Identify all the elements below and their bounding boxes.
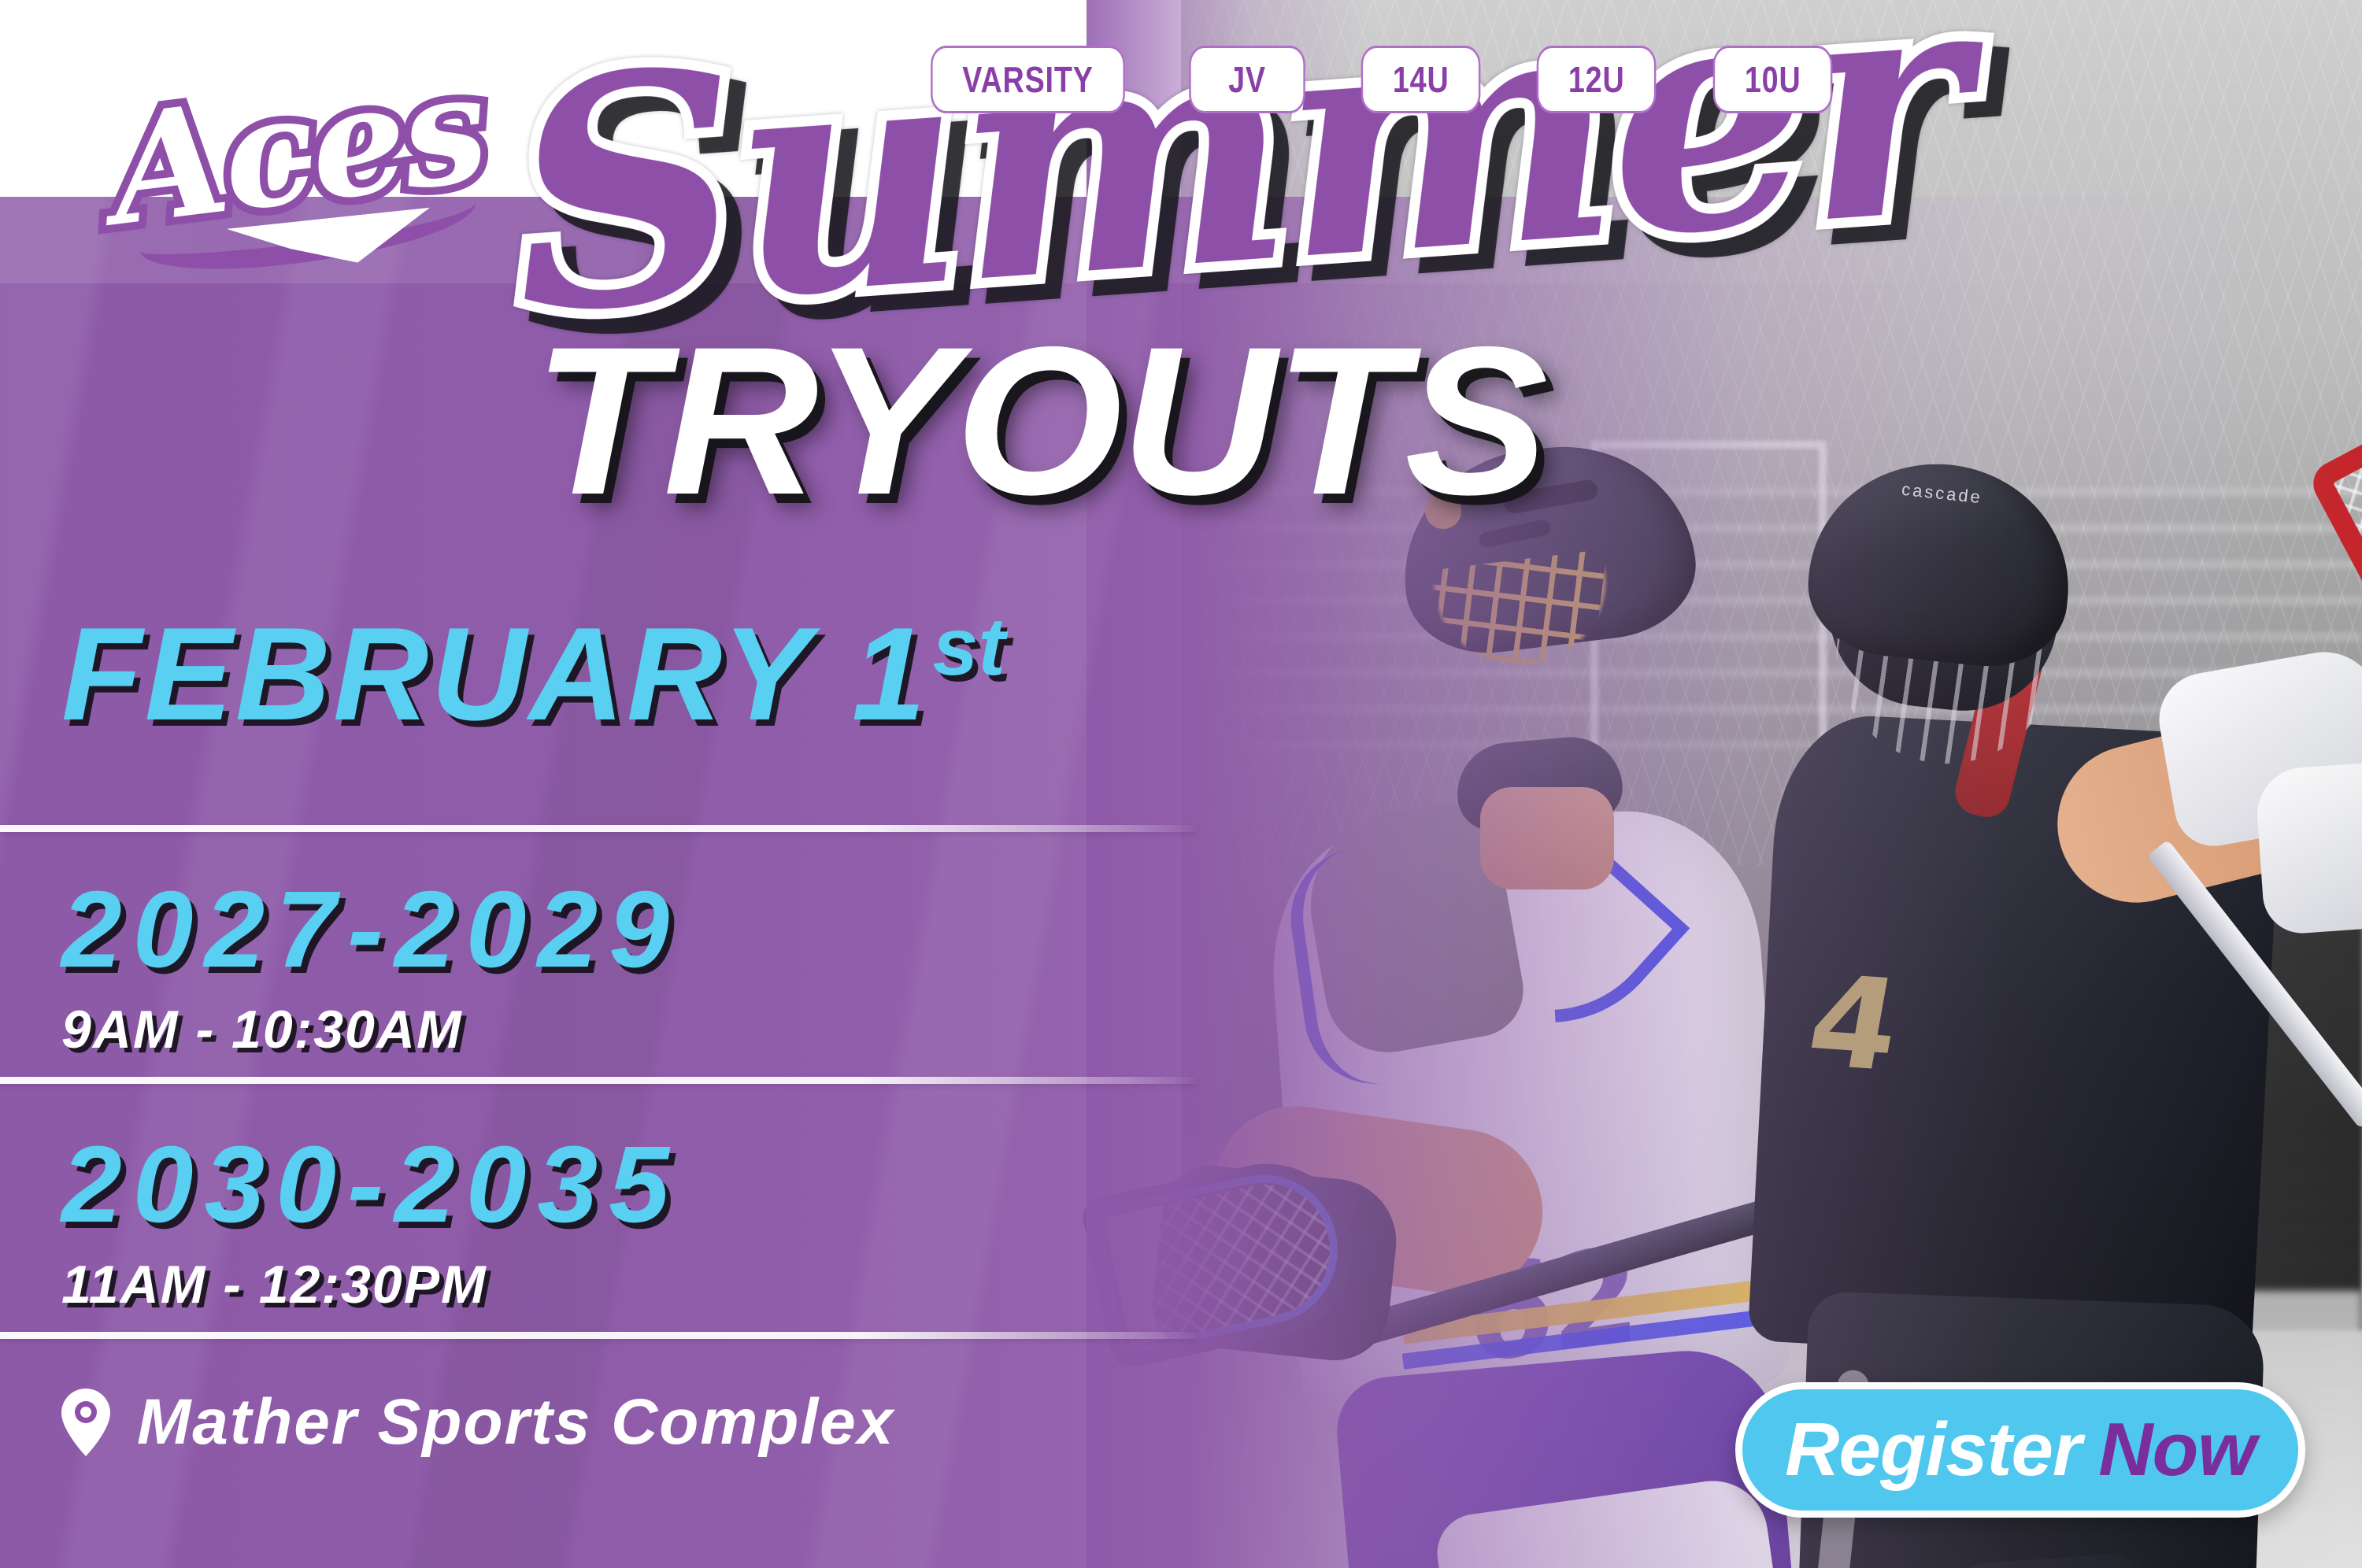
session-1-time: 9AM - 10:30AM bbox=[61, 1003, 680, 1056]
register-now-label: Now bbox=[2098, 1412, 2256, 1488]
age-group-pill-varsity[interactable]: VARSITY bbox=[931, 46, 1125, 113]
venue-name: Mather Sports Complex bbox=[137, 1385, 894, 1459]
session-2-years: 2030-2035 bbox=[61, 1130, 680, 1239]
hero-main-title: TRYOUTS bbox=[533, 315, 1546, 526]
age-group-pill-10u[interactable]: 10U bbox=[1712, 46, 1832, 113]
divider-bottom bbox=[0, 1332, 1197, 1339]
age-group-pill-12u[interactable]: 12U bbox=[1537, 46, 1657, 113]
logo-wordmark: Aces bbox=[102, 53, 492, 246]
event-date: FEBRUARY 1st bbox=[61, 598, 1005, 750]
session-2-time: 11AM - 12:30PM bbox=[61, 1258, 680, 1311]
venue-row: Mather Sports Complex bbox=[61, 1385, 894, 1459]
aces-logo[interactable]: Aces bbox=[110, 75, 488, 256]
session-row-2: 2030-2035 11AM - 12:30PM bbox=[61, 1130, 680, 1311]
event-date-day: 1 bbox=[852, 600, 927, 748]
age-group-pill-row: VARSITY JV 14U 12U 10U bbox=[909, 46, 1846, 113]
event-date-month: FEBRUARY bbox=[61, 600, 813, 748]
event-date-suffix: st bbox=[932, 601, 1005, 693]
session-1-years: 2027-2029 bbox=[61, 875, 680, 984]
session-row-1: 2027-2029 9AM - 10:30AM bbox=[61, 875, 680, 1056]
map-pin-icon bbox=[61, 1389, 110, 1456]
promo-poster: & ···· 62 bbox=[0, 0, 2362, 1568]
age-group-pill-14u[interactable]: 14U bbox=[1361, 46, 1481, 113]
register-label: Register bbox=[1785, 1412, 2081, 1488]
divider-top bbox=[0, 825, 1197, 832]
divider-middle bbox=[0, 1077, 1197, 1084]
register-now-button[interactable]: Register Now bbox=[1735, 1382, 2305, 1518]
age-group-pill-jv[interactable]: JV bbox=[1189, 46, 1305, 113]
